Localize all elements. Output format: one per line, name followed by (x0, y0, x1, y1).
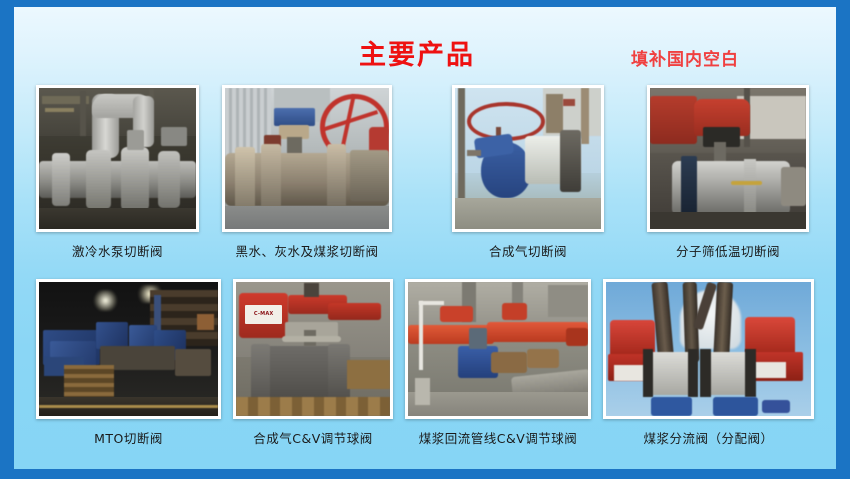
page-title: 主要产品 (359, 33, 475, 72)
gallery-item-3[interactable]: 合成气切断阀 (452, 85, 604, 260)
product-image-4[interactable] (647, 85, 809, 232)
slide-header: 主要产品 填补国内空白 (14, 7, 836, 85)
product-caption-3: 合成气切断阀 (452, 241, 604, 260)
product-image-6[interactable]: C-MAX (233, 279, 393, 419)
product-image-1[interactable] (36, 85, 199, 232)
product-caption-7: 煤浆回流管线C&V调节球阀 (405, 428, 591, 447)
product-image-2[interactable] (222, 85, 392, 232)
gallery-row-1: 激冷水泵切断阀 (14, 85, 836, 265)
product-image-8[interactable] (603, 279, 814, 419)
gallery-item-7[interactable]: 煤浆回流管线C&V调节球阀 (405, 279, 591, 447)
gallery-item-1[interactable]: 激冷水泵切断阀 (36, 85, 199, 260)
product-caption-6: 合成气C&V调节球阀 (233, 428, 393, 447)
slide-content-area: 主要产品 填补国内空白 (14, 7, 836, 469)
product-caption-2: 黑水、灰水及煤浆切断阀 (222, 241, 392, 260)
gallery-item-4[interactable]: 分子筛低温切断阀 (647, 85, 809, 260)
subtitle-badge: 填补国内空白 (631, 45, 739, 70)
gallery-item-5[interactable]: MTO切断阀 (36, 279, 221, 447)
cmax-logo-text: C-MAX (254, 312, 274, 317)
product-image-7[interactable] (405, 279, 591, 419)
gallery-item-8[interactable]: 煤浆分流阀（分配阀） (603, 279, 814, 447)
product-image-5[interactable] (36, 279, 221, 419)
product-caption-1: 激冷水泵切断阀 (36, 241, 199, 260)
product-caption-4: 分子筛低温切断阀 (647, 241, 809, 260)
product-caption-8: 煤浆分流阀（分配阀） (603, 428, 814, 447)
gallery-item-2[interactable]: 黑水、灰水及煤浆切断阀 (222, 85, 392, 260)
product-caption-5: MTO切断阀 (36, 428, 221, 447)
gallery-item-6[interactable]: C-MAX (233, 279, 393, 447)
product-image-3[interactable] (452, 85, 604, 232)
gallery-row-2: MTO切断阀 C-MAX (14, 279, 836, 459)
slide: 主要产品 填补国内空白 (0, 0, 850, 479)
cmax-logo-plate: C-MAX (245, 305, 282, 324)
